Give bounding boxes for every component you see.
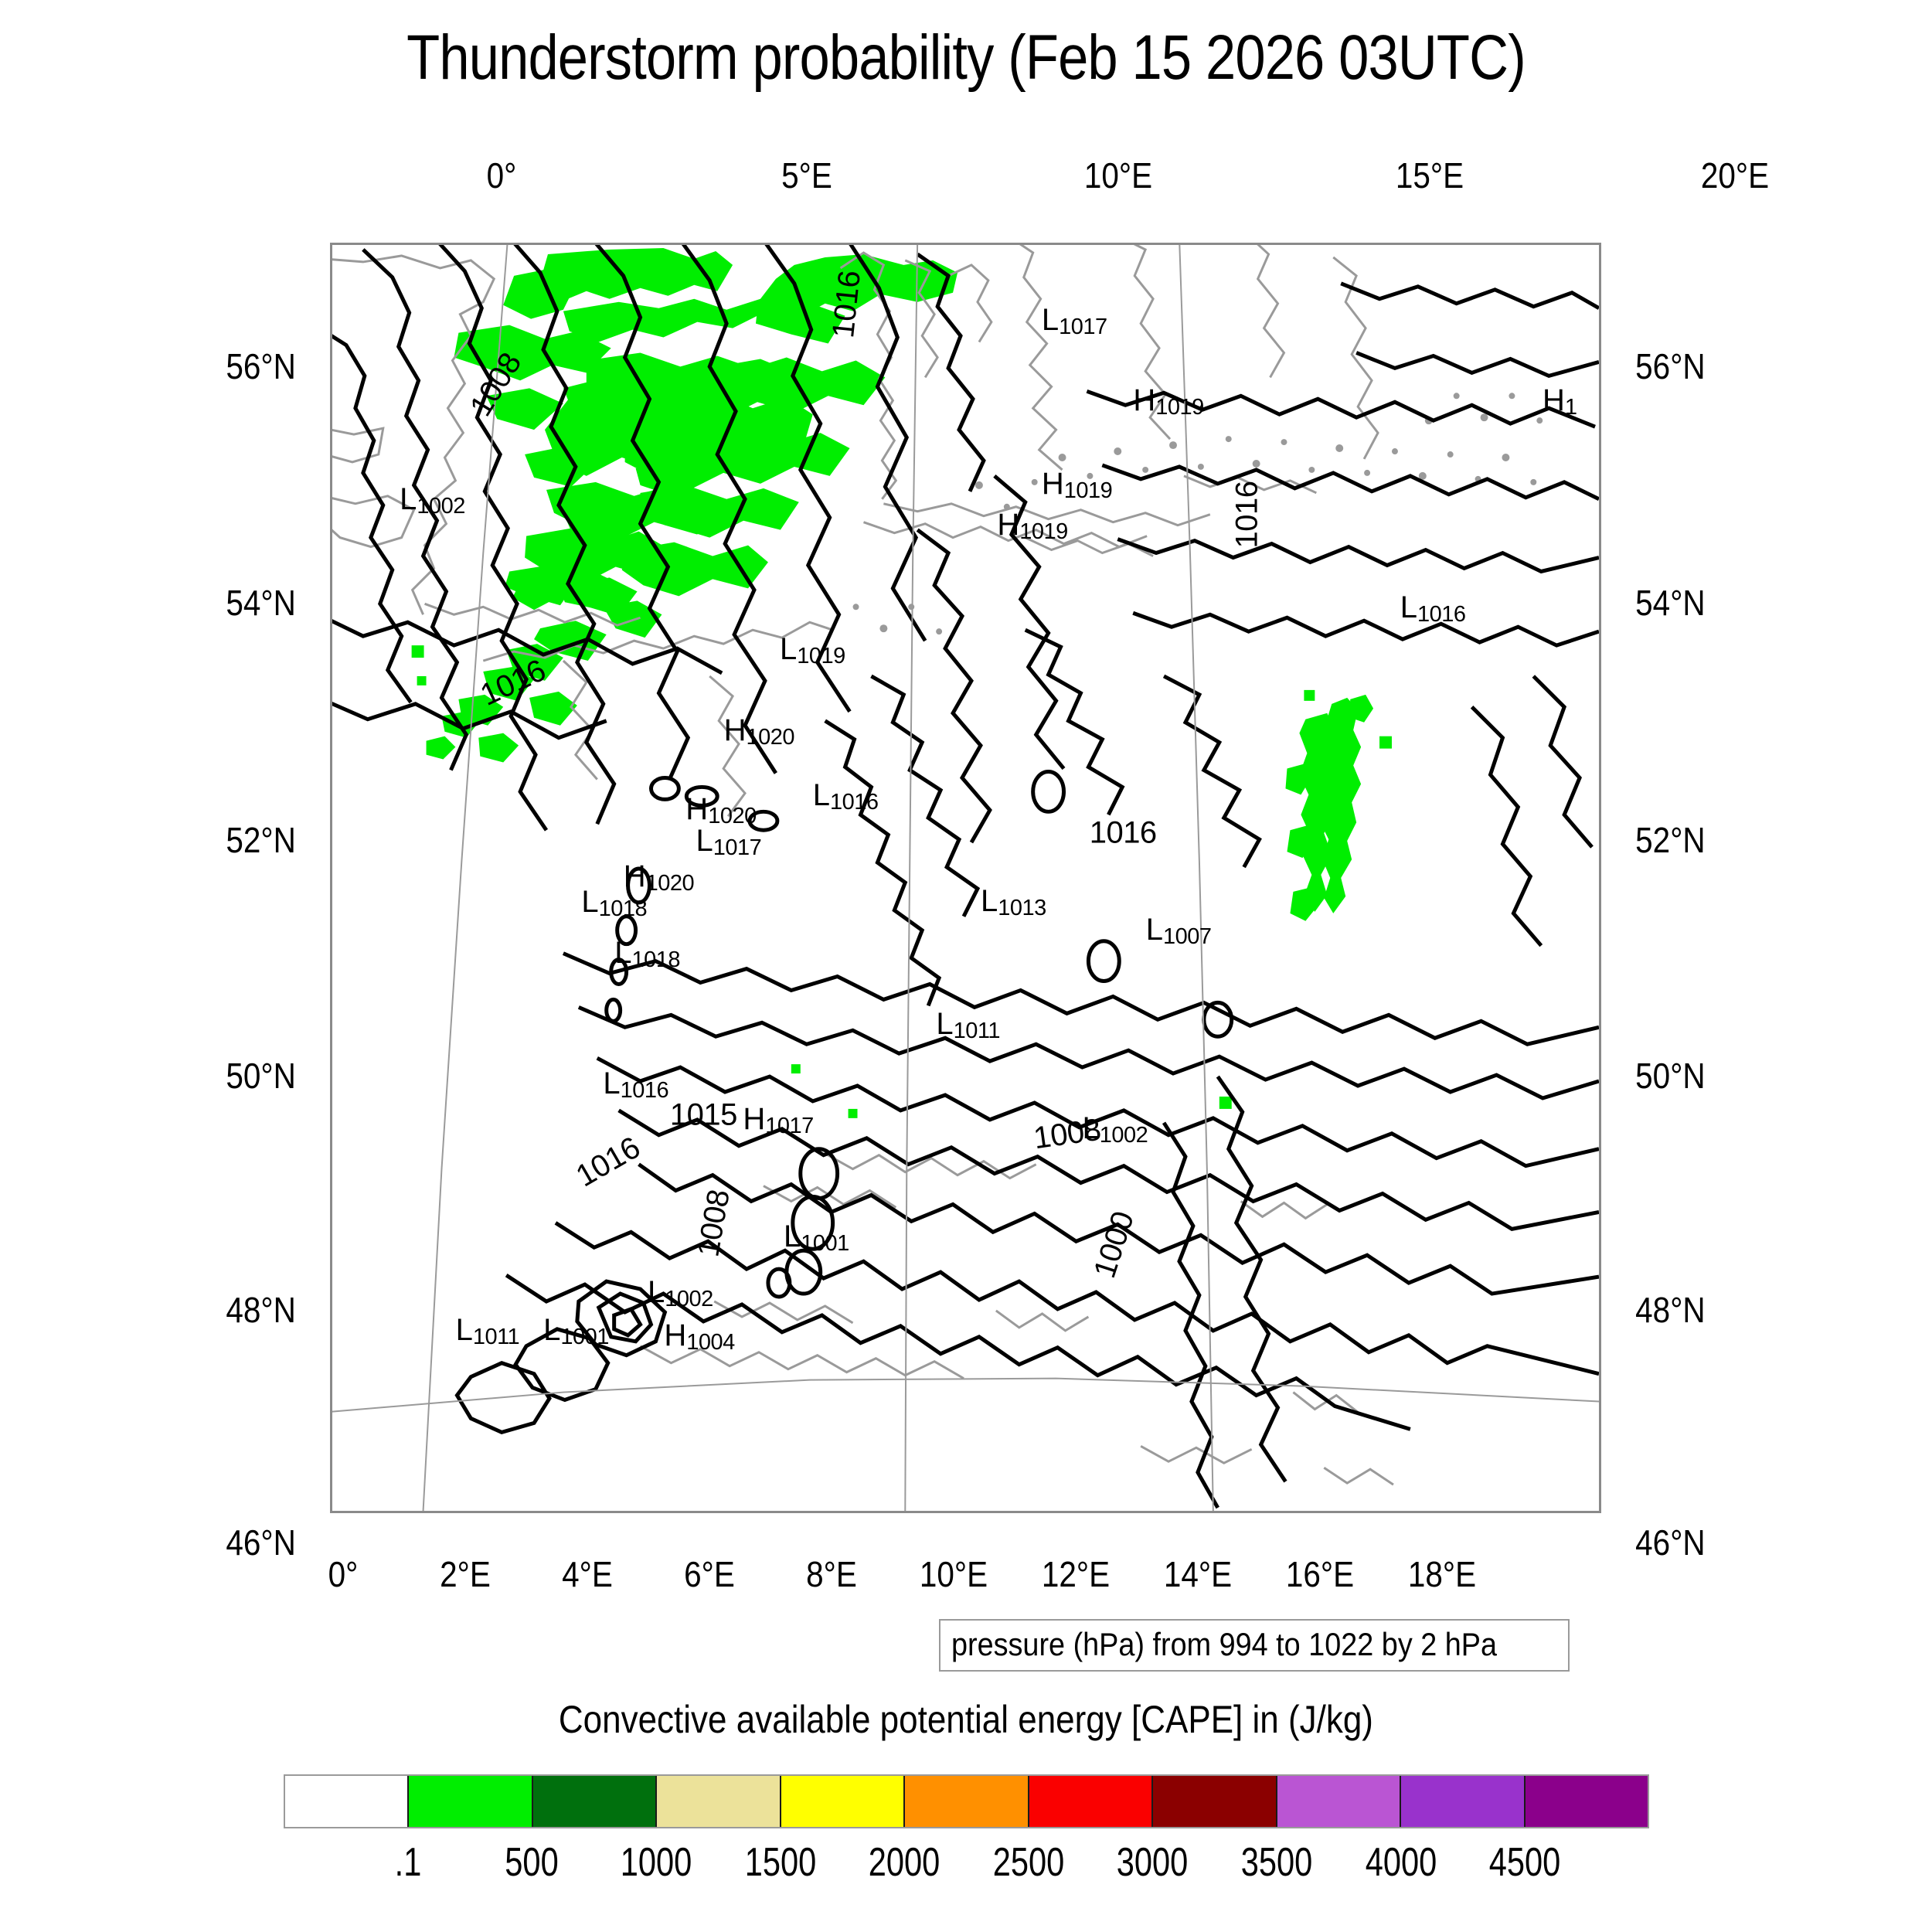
pressure-centre-type: H	[1042, 467, 1064, 501]
pressure-centre-value: 1	[1565, 395, 1577, 420]
pressure-centre-h-3: H1019	[1042, 468, 1112, 502]
pressure-centre-value: 1016	[621, 1079, 669, 1104]
contour-label-1015-5: 1015	[670, 1098, 737, 1133]
colorbar-title: Convective available potential energy [C…	[0, 1697, 1932, 1742]
colorbar-segment-7[interactable]	[1151, 1776, 1275, 1827]
colorbar-label-5: 2500	[993, 1839, 1065, 1886]
colorbar-segment-9[interactable]	[1400, 1776, 1523, 1827]
colorbar-label-1: 500	[505, 1839, 559, 1886]
axis-tick-left-4: 48°N	[226, 1289, 295, 1331]
pressure-centre-l-17: L1011	[936, 1009, 1000, 1043]
axis-tick-right-2: 52°N	[1635, 819, 1705, 861]
pressure-centre-value: 1018	[631, 947, 680, 972]
axis-tick-bottom-4: 8°E	[806, 1553, 857, 1595]
pressure-centre-type: L	[813, 778, 830, 812]
pressure-centre-type: H	[724, 713, 747, 747]
axis-tick-bottom-8: 16°E	[1286, 1553, 1354, 1595]
coastline-layer	[332, 245, 1393, 1485]
axis-tick-top-3: 15°E	[1396, 155, 1464, 196]
pressure-centre-value: 1018	[599, 896, 648, 921]
axis-tick-top-2: 10°E	[1084, 155, 1152, 196]
colorbar-segment-10[interactable]	[1524, 1776, 1648, 1827]
pressure-centre-l-16: L1018	[614, 937, 680, 971]
pressure-centre-h-8: H1020	[724, 715, 794, 749]
pressure-centre-value: 1019	[1064, 479, 1113, 504]
pressure-centre-value: 1011	[473, 1325, 519, 1349]
axis-tick-left-2: 52°N	[226, 819, 295, 861]
colorbar-label-0: .1	[394, 1839, 421, 1886]
axis-tick-bottom-1: 2°E	[440, 1553, 491, 1595]
pressure-centre-value: 1011	[954, 1019, 1000, 1043]
colorbar-segment-1[interactable]	[407, 1776, 531, 1827]
colorbar-segment-6[interactable]	[1028, 1776, 1151, 1827]
pressure-centre-l-15: L1007	[1146, 914, 1212, 948]
pressure-centre-type: L	[981, 884, 998, 918]
isobar-layer	[332, 245, 1599, 1508]
pressure-centre-h-5: H1	[1543, 385, 1577, 419]
pressure-centre-l-6: L1016	[1400, 592, 1466, 626]
pressure-centre-type: L	[581, 885, 598, 919]
colorbar-segment-4[interactable]	[780, 1776, 903, 1827]
axis-tick-bottom-0: 0°	[328, 1553, 359, 1595]
colorbar-segment-8[interactable]	[1276, 1776, 1400, 1827]
contour-label-1016-1: 1016	[826, 270, 868, 340]
axis-tick-top-0: 0°	[487, 155, 517, 196]
pressure-centre-value: 1007	[1163, 925, 1212, 950]
pressure-legend-text: pressure (hPa) from 994 to 1022 by 2 hPa	[951, 1626, 1497, 1663]
contour-label-1016-3: 1016	[1090, 816, 1157, 851]
pressure-centre-l-10: L1016	[813, 780, 879, 814]
map-panel[interactable]: L1002L1017H1019H1019H1019H1L1016L1019H10…	[330, 243, 1601, 1513]
pressure-centre-l-7: L1019	[780, 634, 845, 668]
pressure-centre-l-11: L1017	[696, 825, 761, 859]
pressure-centre-h-25: H1004	[664, 1320, 734, 1354]
pressure-centre-h-2: H1019	[1133, 385, 1203, 419]
colorbar-tick-labels: .150010001500200025003000350040004500	[284, 1839, 1649, 1893]
pressure-centre-l-24: L1001	[543, 1315, 609, 1349]
pressure-centre-l-13: L1018	[581, 886, 647, 920]
pressure-centre-l-23: L1011	[456, 1315, 520, 1349]
pressure-centre-type: L	[936, 1007, 953, 1041]
pressure-centre-value: 1019	[1019, 519, 1068, 544]
pressure-centre-l-18: L1016	[603, 1068, 668, 1102]
colorbar-label-7: 3500	[1241, 1839, 1313, 1886]
axis-tick-bottom-3: 6°E	[684, 1553, 735, 1595]
colorbar-label-9: 4500	[1489, 1839, 1561, 1886]
pressure-centre-value: 1017	[765, 1114, 814, 1139]
pressure-centre-value: 1016	[1417, 602, 1466, 627]
pressure-centre-type: L	[400, 482, 417, 516]
map-canvas	[332, 245, 1599, 1511]
axis-tick-right-0: 56°N	[1635, 345, 1705, 387]
pressure-centre-h-9: H1020	[685, 794, 756, 828]
pressure-centre-l-1: L1017	[1042, 304, 1107, 338]
axis-tick-bottom-7: 14°E	[1164, 1553, 1232, 1595]
colorbar-label-3: 1500	[744, 1839, 816, 1886]
pressure-centre-value: 1004	[686, 1330, 735, 1355]
pressure-centre-type: H	[1133, 383, 1155, 417]
colorbar-segment-3[interactable]	[655, 1776, 779, 1827]
pressure-centre-value: 1013	[998, 896, 1046, 920]
pressure-centre-type: L	[614, 936, 631, 970]
axis-tick-left-1: 54°N	[226, 582, 295, 624]
pressure-centre-value: 1016	[830, 790, 879, 815]
colorbar[interactable]	[284, 1774, 1649, 1828]
pressure-centre-value: 1002	[665, 1287, 713, 1311]
axis-tick-top-1: 5°E	[781, 155, 832, 196]
pressure-centre-value: 1002	[1100, 1123, 1148, 1148]
pressure-centre-type: L	[456, 1313, 473, 1347]
colorbar-segment-5[interactable]	[903, 1776, 1027, 1827]
colorbar-label-6: 3000	[1117, 1839, 1189, 1886]
pressure-centre-l-22: L1002	[648, 1277, 713, 1311]
pressure-centre-l-21: L1001	[784, 1221, 849, 1255]
pressure-centre-l-14: L1013	[981, 886, 1046, 920]
pressure-centre-type: H	[743, 1102, 765, 1136]
pressure-legend-box: pressure (hPa) from 994 to 1022 by 2 hPa	[939, 1619, 1570, 1672]
pressure-centre-type: L	[780, 632, 797, 666]
pressure-centre-type: L	[1400, 590, 1417, 624]
axis-tick-left-3: 50°N	[226, 1055, 295, 1097]
axis-tick-bottom-9: 18°E	[1407, 1553, 1475, 1595]
pressure-centre-type: H	[997, 508, 1019, 542]
contour-label-1016-4: 1016	[1230, 481, 1265, 548]
pressure-centre-l-0: L1002	[400, 484, 465, 518]
axis-tick-right-1: 54°N	[1635, 582, 1705, 624]
axis-tick-right-5: 46°N	[1635, 1522, 1705, 1563]
pressure-centre-type: L	[543, 1313, 560, 1347]
pressure-centre-h-4: H1019	[997, 509, 1067, 543]
axis-tick-bottom-2: 4°E	[562, 1553, 613, 1595]
pressure-centre-value: 1020	[747, 725, 795, 750]
pressure-centre-value: 1017	[713, 836, 762, 861]
pressure-centre-value: 1002	[417, 494, 465, 519]
graticule-layer	[332, 245, 1599, 1511]
pressure-centre-h-19: H1017	[743, 1104, 813, 1138]
pressure-centre-type: L	[648, 1275, 665, 1309]
axis-tick-left-0: 56°N	[226, 345, 295, 387]
axis-tick-right-4: 48°N	[1635, 1289, 1705, 1331]
axis-tick-right-3: 50°N	[1635, 1055, 1705, 1097]
pressure-centre-value: 1001	[801, 1231, 849, 1256]
axis-tick-bottom-5: 10°E	[920, 1553, 988, 1595]
pressure-centre-type: L	[784, 1219, 801, 1253]
axis-tick-left-5: 46°N	[226, 1522, 295, 1563]
pressure-centre-value: 1017	[1059, 315, 1107, 339]
colorbar-label-4: 2000	[869, 1839, 940, 1886]
pressure-centre-type: H	[664, 1318, 686, 1352]
pressure-centre-value: 1020	[646, 872, 695, 896]
pressure-centre-type: L	[1146, 913, 1163, 947]
pressure-centre-type: L	[603, 1066, 620, 1100]
pressure-centre-type: H	[1543, 383, 1565, 417]
pressure-centre-value: 1019	[1155, 395, 1204, 420]
pressure-centre-value: 1001	[560, 1325, 609, 1349]
axis-tick-top-4: 20°E	[1701, 155, 1769, 196]
pressure-centre-value: 1019	[797, 644, 845, 668]
page-title: Thunderstorm probability (Feb 15 2026 03…	[135, 22, 1797, 94]
colorbar-label-2: 1000	[621, 1839, 692, 1886]
axis-tick-bottom-6: 12°E	[1042, 1553, 1110, 1595]
colorbar-segment-2[interactable]	[532, 1776, 655, 1827]
pressure-centre-type: H	[685, 792, 708, 826]
pressure-centre-type: L	[1042, 303, 1059, 337]
colorbar-label-8: 4000	[1365, 1839, 1437, 1886]
pressure-centre-type: L	[696, 824, 713, 858]
colorbar-segment-0[interactable]	[285, 1776, 407, 1827]
